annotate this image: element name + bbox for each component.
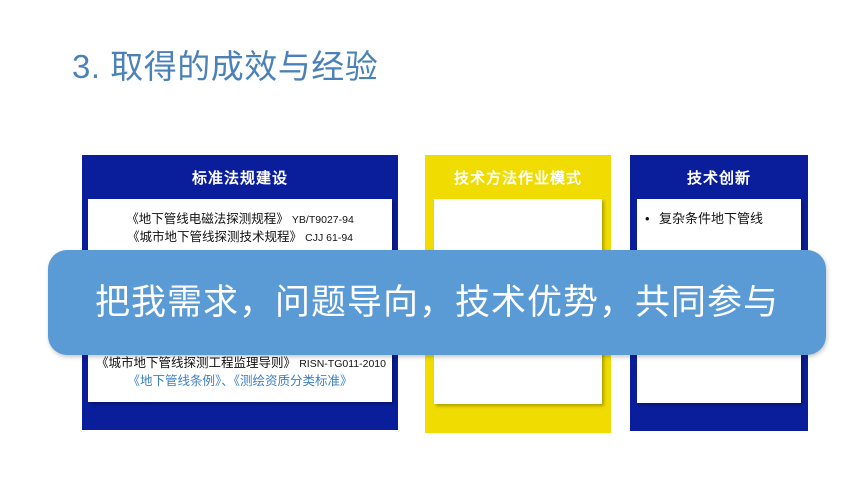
spacer: [440, 223, 596, 237]
column-standards-header: 标准法规建设: [82, 155, 398, 199]
regulation-code: CJJ 61-94: [305, 232, 353, 244]
column-methods-header: 技术方法作业模式: [425, 155, 611, 199]
overlay-callout-text: 把我需求，问题导向，技术优势，共同参与: [95, 285, 779, 320]
spacer: [641, 228, 797, 242]
regulation-title: 《地下管线电磁法探测规程》: [126, 212, 289, 226]
spacer: [440, 237, 596, 251]
regulation-title: 《地下管线条例》、《测绘资质分类标准》: [127, 374, 352, 388]
regulation-title: 《城市地下管线探测技术规程》: [127, 230, 302, 244]
column-innovation-header: 技术创新: [630, 155, 808, 199]
page-title: 3. 取得的成效与经验: [72, 40, 378, 88]
regulation-code: YB/T9027-94: [292, 214, 354, 226]
presentation-slide: 3. 取得的成效与经验 标准法规建设 《地下管线电磁法探测规程》 YB/T902…: [0, 0, 856, 480]
regulation-code: RISN-TG011-2010: [299, 358, 386, 370]
regulation-line: 《地下管线条例》、《测绘资质分类标准》: [96, 373, 384, 391]
regulation-line: 《城市地下管线探测技术规程》 CJJ 61-94: [96, 229, 384, 247]
regulation-line: 《城市地下管线探测工程监理导则》 RISN-TG011-2010: [96, 355, 384, 373]
regulation-title: 《城市地下管线探测工程监理导则》: [96, 356, 296, 370]
overlay-callout-banner[interactable]: 把我需求，问题导向，技术优势，共同参与: [48, 250, 826, 355]
list-item: 复杂条件地下管线: [641, 209, 797, 228]
spacer: [440, 209, 596, 223]
regulation-line: 《地下管线电磁法探测规程》 YB/T9027-94: [96, 211, 384, 229]
